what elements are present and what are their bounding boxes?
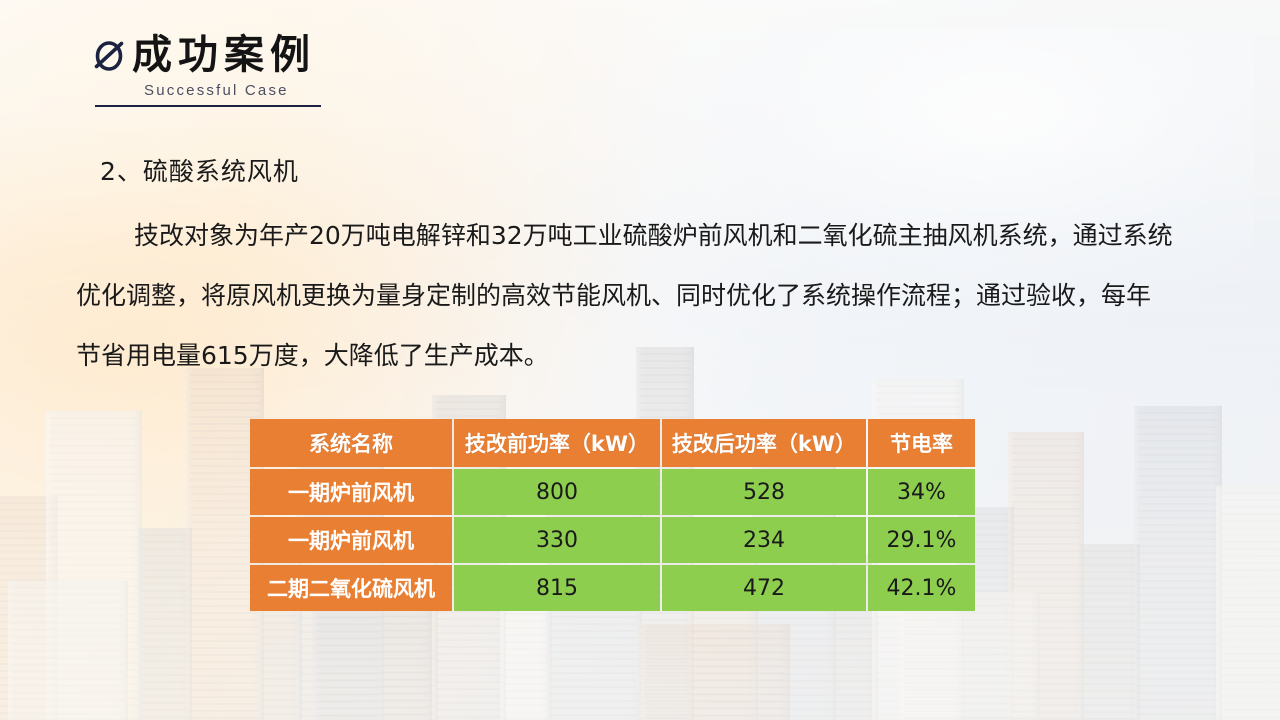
table-body: 一期炉前风机 800 528 34% 一期炉前风机 330 234 29.1% … xyxy=(250,469,975,611)
title-row: 成功案例 xyxy=(92,34,512,76)
table-header: 系统名称 技改前功率（kW） 技改后功率（kW） 节电率 xyxy=(250,419,975,467)
column-header-system-name: 系统名称 xyxy=(250,419,452,467)
paragraph-line-1: 技改对象为年产20万吨电解锌和32万吨工业硫酸炉前风机和二氧化硫主抽风机系统，通… xyxy=(76,206,1254,266)
cell-power-after: 472 xyxy=(662,565,866,611)
results-table-wrapper: 系统名称 技改前功率（kW） 技改后功率（kW） 节电率 一期炉前风机 800 … xyxy=(248,417,975,613)
results-table: 系统名称 技改前功率（kW） 技改后功率（kW） 节电率 一期炉前风机 800 … xyxy=(248,417,977,613)
cell-system-name: 一期炉前风机 xyxy=(250,469,452,515)
section-heading: 2、硫酸系统风机 xyxy=(100,152,299,188)
cell-system-name: 二期二氧化硫风机 xyxy=(250,565,452,611)
cell-power-before: 330 xyxy=(454,517,660,563)
null-set-icon xyxy=(92,35,126,75)
cell-power-after: 528 xyxy=(662,469,866,515)
slide-title-block: 成功案例 Successful Case xyxy=(92,34,512,107)
cell-saving-rate: 34% xyxy=(868,469,975,515)
column-header-power-after: 技改后功率（kW） xyxy=(662,419,866,467)
table-row: 一期炉前风机 330 234 29.1% xyxy=(250,517,975,563)
table-row: 一期炉前风机 800 528 34% xyxy=(250,469,975,515)
table-header-row: 系统名称 技改前功率（kW） 技改后功率（kW） 节电率 xyxy=(250,419,975,467)
cell-power-before: 815 xyxy=(454,565,660,611)
paragraph-line-2: 优化调整，将原风机更换为量身定制的高效节能风机、同时优化了系统操作流程；通过验收… xyxy=(76,266,1254,326)
slide: 成功案例 Successful Case 2、硫酸系统风机 技改对象为年产20万… xyxy=(0,0,1280,720)
cell-system-name: 一期炉前风机 xyxy=(250,517,452,563)
cell-power-before: 800 xyxy=(454,469,660,515)
body-paragraph: 技改对象为年产20万吨电解锌和32万吨工业硫酸炉前风机和二氧化硫主抽风机系统，通… xyxy=(76,206,1254,386)
title-underline xyxy=(95,105,321,107)
paragraph-line-3: 节省用电量615万度，大降低了生产成本。 xyxy=(76,326,1254,386)
table-row: 二期二氧化硫风机 815 472 42.1% xyxy=(250,565,975,611)
cell-saving-rate: 29.1% xyxy=(868,517,975,563)
cell-saving-rate: 42.1% xyxy=(868,565,975,611)
column-header-saving-rate: 节电率 xyxy=(868,419,975,467)
cell-power-after: 234 xyxy=(662,517,866,563)
page-title: 成功案例 xyxy=(132,34,316,76)
page-subtitle: Successful Case xyxy=(92,82,512,99)
column-header-power-before: 技改前功率（kW） xyxy=(454,419,660,467)
